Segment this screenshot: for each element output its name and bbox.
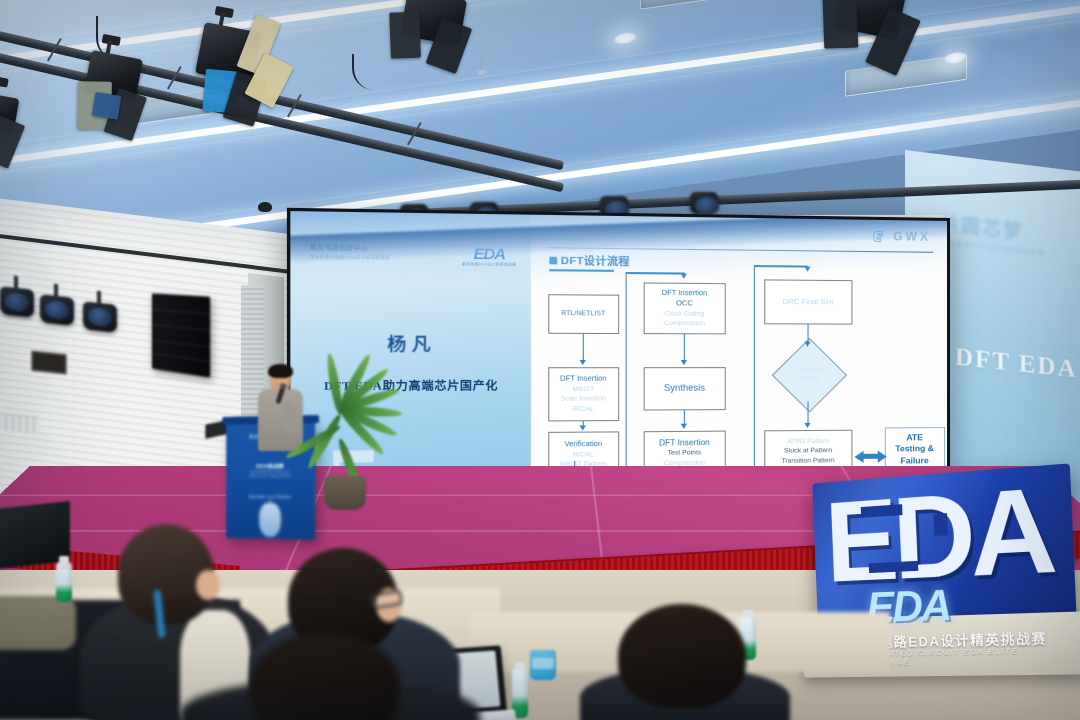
flow-arrowhead <box>804 342 810 347</box>
sprinkler-head-icon <box>480 59 483 72</box>
gwx-brand: GWX <box>873 229 931 244</box>
flow-node-synthesis: Synthesis <box>643 367 725 410</box>
flow-arrow <box>807 324 809 342</box>
dome-camera-icon <box>258 202 272 212</box>
line-array-speaker <box>152 293 210 377</box>
podium-mascot-graphic <box>259 503 281 537</box>
par-stage-light <box>40 294 74 326</box>
flow-feedback-path <box>753 265 755 469</box>
flow-arrowhead <box>804 267 810 272</box>
flow-bidirectional-arrow <box>862 454 878 459</box>
flow-arrowhead <box>681 274 687 279</box>
podium-logo-mid: EDA挑战赛 INTEGRATED CIRCUIT EDA ELITE CHAL… <box>248 463 292 478</box>
bullet-square-icon <box>549 257 557 264</box>
flow-arrow <box>807 402 809 424</box>
flow-feedback-path <box>753 265 807 267</box>
flow-feedback-path <box>625 272 684 274</box>
flow-arrowhead <box>804 423 810 428</box>
bag-on-table <box>0 596 76 650</box>
flow-node-rtl: RTL/NETLIST <box>548 294 619 334</box>
flow-arrowhead <box>580 425 586 430</box>
conference-photo-scene: 共圆芯梦 集成电路EDA设计精英挑战赛 DFT EDA 集成电路创新中心 国家级… <box>0 0 1080 720</box>
flow-node-dft-final-sim: DRC Final Sim <box>764 279 852 324</box>
flow-node-coverage-check: Coverage Check <box>771 338 846 413</box>
flow-feedback-path <box>625 272 627 477</box>
flow-node-dft-insert-occ: DFT Insertion OCC Clock Gating Compressi… <box>643 282 725 334</box>
wall-mounted-panel <box>31 350 67 375</box>
water-bottle <box>56 562 72 602</box>
moving-head-light <box>690 192 718 214</box>
header-rule <box>546 247 933 253</box>
flow-arrow <box>582 334 584 361</box>
flow-arrow <box>683 334 685 361</box>
flow-arrowhead <box>681 360 687 365</box>
drink-cup <box>530 650 556 680</box>
gwx-logo-icon <box>873 229 886 242</box>
flow-node-dft-insert-1: DFT Insertion MBIST Scan Insertion RICAL <box>548 367 619 421</box>
flow-arrowhead <box>580 360 586 365</box>
slide-logo-left: 集成电路创新中心 国家级集成电路EDA设计精英挑战赛 <box>310 244 390 261</box>
gwx-wordmark: GWX <box>893 229 931 244</box>
par-stage-light <box>83 301 117 333</box>
slide-logo-eda: EDA 集成电路EDA设计精英挑战赛 <box>462 246 517 268</box>
par-stage-light <box>0 286 34 318</box>
flow-arrowhead <box>681 424 687 429</box>
flow-arrow <box>683 410 685 424</box>
potted-palm <box>300 350 390 520</box>
